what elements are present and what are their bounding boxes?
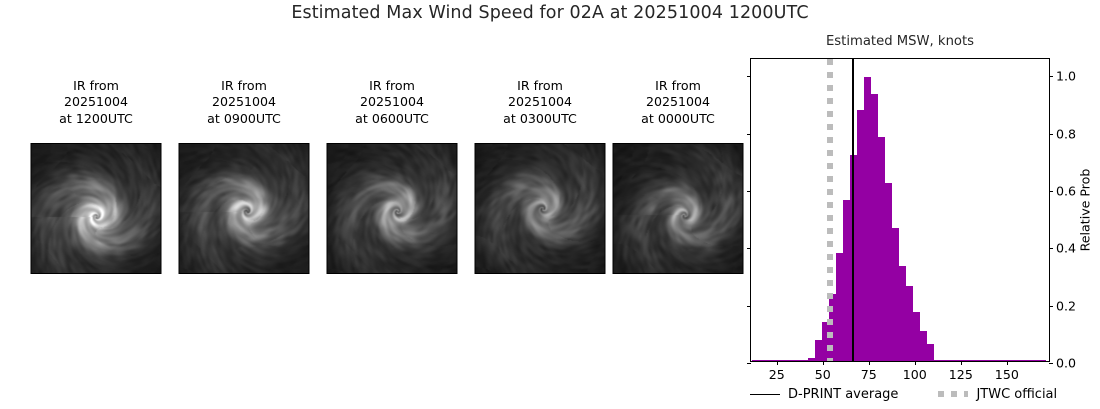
y-axis-tick-left xyxy=(747,134,751,135)
y-axis-tick xyxy=(1049,134,1053,135)
y-axis-tick-left xyxy=(747,363,751,364)
y-axis-tick-label: 0.0 xyxy=(1056,356,1076,371)
y-axis-tick xyxy=(1049,363,1053,364)
histogram-bar xyxy=(969,360,976,361)
y-axis-tick-left xyxy=(747,306,751,307)
histogram-bar xyxy=(920,331,927,361)
y-axis-tick xyxy=(1049,76,1053,77)
ir-satellite-image xyxy=(613,143,744,274)
y-axis-tick xyxy=(1049,191,1053,192)
histogram-bar xyxy=(1025,360,1032,361)
histogram-bar xyxy=(752,360,759,361)
ir-panel-0900UTC: IR from 20251004 at 0900UTC xyxy=(170,78,318,127)
ir-panel-0000UTC: IR from 20251004 at 0000UTC xyxy=(604,78,752,127)
y-axis-tick xyxy=(1049,248,1053,249)
x-axis-tick xyxy=(823,361,824,365)
y-axis-tick-label: 0.4 xyxy=(1056,241,1076,256)
x-axis-tick xyxy=(1007,361,1008,365)
legend-label-dprint: D-PRINT average xyxy=(788,387,898,402)
ir-satellite-image xyxy=(31,143,162,274)
y-axis-tick-left xyxy=(747,191,751,192)
ir-satellite-image xyxy=(179,143,310,274)
histogram-bar xyxy=(1032,360,1039,361)
histogram-bar xyxy=(934,360,941,361)
ir-panel-0600UTC: IR from 20251004 at 0600UTC xyxy=(318,78,466,127)
histogram-bar xyxy=(815,340,822,362)
histogram-bar xyxy=(857,110,864,361)
legend-entry-jtwc: JTWC official xyxy=(938,387,1057,402)
histogram-bar xyxy=(759,360,766,361)
histogram-bar xyxy=(997,360,1004,361)
histogram-bar xyxy=(976,360,983,361)
ir-panel-caption: IR from 20251004 at 0300UTC xyxy=(466,78,614,127)
histogram-bar xyxy=(878,137,885,361)
y-axis-tick-left xyxy=(747,248,751,249)
histogram-title: Estimated MSW, knots xyxy=(750,34,1050,49)
x-axis-tick xyxy=(915,361,916,365)
histogram-bar xyxy=(1018,360,1025,361)
ir-panel-0300UTC: IR from 20251004 at 0300UTC xyxy=(466,78,614,127)
histogram-bar xyxy=(808,358,815,361)
solid-line-swatch xyxy=(750,394,780,395)
histogram-bar xyxy=(913,312,920,361)
histogram-bar xyxy=(794,360,801,361)
figure-title: Estimated Max Wind Speed for 02A at 2025… xyxy=(0,3,1100,23)
histogram-bar xyxy=(766,360,773,361)
histogram-bar xyxy=(801,360,808,361)
x-axis-tick xyxy=(869,361,870,365)
histogram-bar xyxy=(843,200,850,361)
histogram-bar xyxy=(1011,360,1018,361)
y-axis-tick-label: 0.2 xyxy=(1056,298,1076,313)
histogram-bar xyxy=(885,183,892,361)
figure-canvas: Estimated Max Wind Speed for 02A at 2025… xyxy=(0,0,1100,409)
ir-panel-caption: IR from 20251004 at 0600UTC xyxy=(318,78,466,127)
histogram-bar xyxy=(836,253,843,361)
ir-panel-1200UTC: IR from 20251004 at 1200UTC xyxy=(22,78,170,127)
histogram-plot-area xyxy=(751,59,1049,361)
y-axis-tick-left xyxy=(747,76,751,77)
histogram-bar xyxy=(906,286,913,361)
histogram-bar xyxy=(962,360,969,361)
ir-satellite-image xyxy=(327,143,458,274)
x-axis-tick-label: 50 xyxy=(815,367,831,382)
histogram-axes: 2550751001251500.00.20.40.60.81.0 xyxy=(750,58,1050,362)
x-axis-tick-label: 25 xyxy=(769,367,785,382)
x-axis-tick-label: 100 xyxy=(903,367,927,382)
histogram-bar xyxy=(983,360,990,361)
y-axis-tick xyxy=(1049,306,1053,307)
histogram-bar xyxy=(780,360,787,361)
chart-legend: D-PRINT average JTWC official xyxy=(750,383,1080,405)
x-axis-tick-label: 150 xyxy=(995,367,1019,382)
histogram-bar xyxy=(871,94,878,361)
ir-panel-caption: IR from 20251004 at 0000UTC xyxy=(604,78,752,127)
x-axis-tick xyxy=(961,361,962,365)
histogram-bar xyxy=(927,344,934,361)
legend-label-jtwc: JTWC official xyxy=(976,387,1057,402)
dprint-average-vline xyxy=(852,59,854,361)
dashed-line-swatch xyxy=(938,391,968,396)
histogram-bar xyxy=(1039,360,1046,361)
histogram-bar xyxy=(892,228,899,361)
ir-panel-row: IR from 20251004 at 1200UTCIR from 20251… xyxy=(0,78,740,278)
ir-panel-caption: IR from 20251004 at 1200UTC xyxy=(22,78,170,127)
y-axis-tick-label: 0.8 xyxy=(1056,126,1076,141)
jtwc-official-vline xyxy=(827,59,832,361)
histogram-bar xyxy=(864,77,871,361)
histogram-bar xyxy=(948,360,955,361)
x-axis-tick-label: 125 xyxy=(949,367,973,382)
ir-satellite-image xyxy=(475,143,606,274)
legend-entry-dprint: D-PRINT average xyxy=(750,387,898,402)
histogram-bar xyxy=(787,360,794,361)
histogram-bar xyxy=(899,266,906,361)
ir-panel-caption: IR from 20251004 at 0900UTC xyxy=(170,78,318,127)
y-axis-tick-label: 1.0 xyxy=(1056,69,1076,84)
y-axis-tick-label: 0.6 xyxy=(1056,183,1076,198)
x-axis-tick xyxy=(777,361,778,365)
x-axis-tick-label: 75 xyxy=(861,367,877,382)
y-axis-label: Relative Prob xyxy=(1078,169,1093,252)
histogram-bar xyxy=(941,360,948,361)
histogram-bar xyxy=(990,360,997,361)
